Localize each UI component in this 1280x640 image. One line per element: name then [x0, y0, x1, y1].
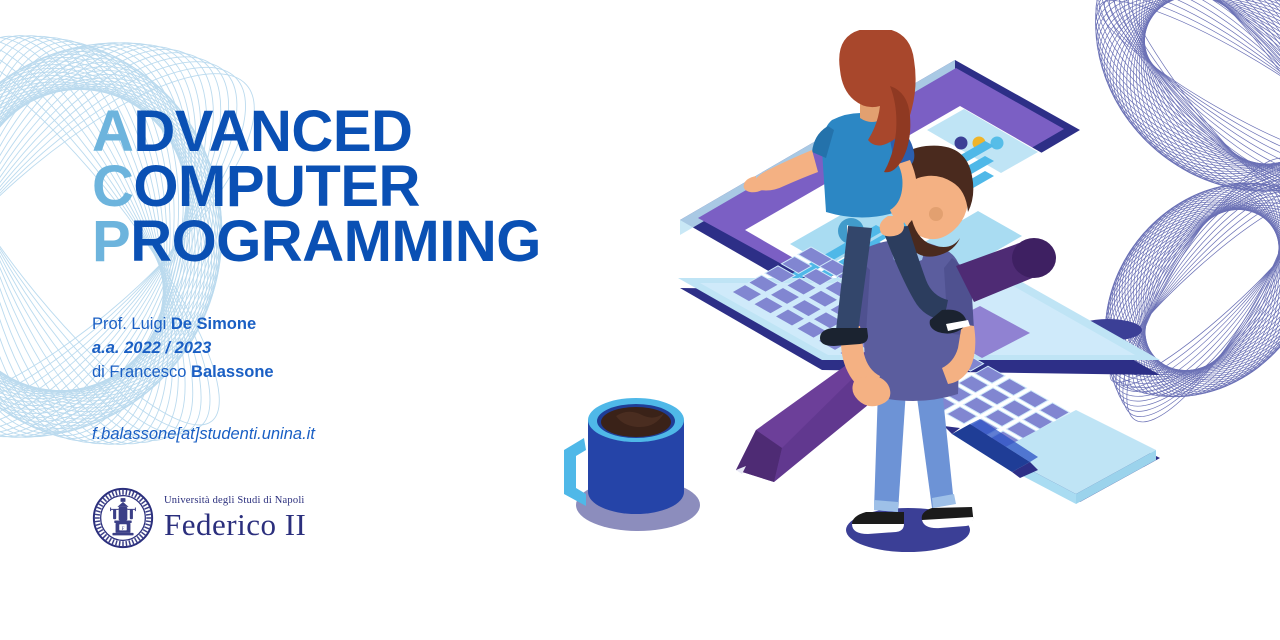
mug-handle: [564, 438, 586, 506]
logo-federico-ii: Federico II: [164, 509, 306, 540]
title-initial-p: P: [92, 209, 130, 274]
logo-university-name: Università degli Studi di Napoli: [164, 496, 306, 507]
title-rest-3: ROGRAMMING: [130, 209, 541, 274]
professor-prefix: Prof. Luigi: [92, 315, 171, 333]
browser-dot-1: [955, 137, 968, 150]
svg-text:F: F: [122, 527, 125, 532]
notepad-and-pen: [944, 404, 1160, 504]
course-cover-slide: ADVANCED COMPUTER PROGRAMMING Prof. Luig…: [0, 0, 1280, 640]
university-logo: F Università degli Studi di Napoli Feder…: [92, 487, 306, 549]
university-seal-icon: F: [92, 487, 154, 549]
logo-wordmark: Università degli Studi di Napoli Federic…: [164, 496, 306, 540]
isometric-illustration: [560, 30, 1260, 610]
author-prefix: di Francesco: [92, 363, 191, 381]
browser-dot-3: [991, 137, 1004, 150]
professor-name: De Simone: [171, 315, 256, 333]
author-name: Balassone: [191, 363, 274, 381]
coffee-mug: [564, 398, 700, 531]
